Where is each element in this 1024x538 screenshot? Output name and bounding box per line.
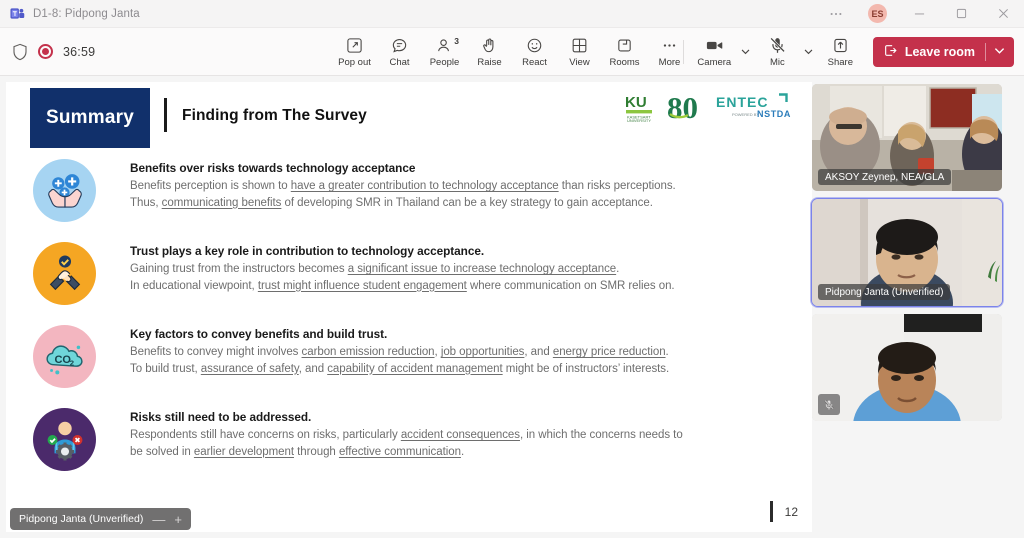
leave-room-label: Leave room [905,45,975,59]
mic-muted-icon [768,36,787,56]
breakout-rooms-icon [616,36,633,56]
chat-icon [391,36,408,56]
slide-row: Benefits over risks towards technology a… [6,156,812,239]
eighty-anniversary-logo: 80 [667,90,707,129]
slide-row-title: Trust plays a key role in contribution t… [130,244,675,258]
leave-divider [985,43,986,61]
slide-header-divider [164,98,167,132]
chat-button[interactable]: Chat [377,30,422,74]
risk-management-person-icon [33,408,96,471]
text-segment: Benefits to convey might involves [130,346,302,358]
meeting-toolbar: 36:59 Pop out Chat [0,28,1024,76]
participant-tile-active-speaker[interactable]: Pidpong Janta (Unverified) [812,199,1002,306]
chat-label: Chat [389,57,409,68]
react-button[interactable]: React [512,30,557,74]
co2-cloud-icon: CO 2 [33,325,96,388]
slide-row-text: Key factors to convey benefits and build… [130,322,669,377]
raise-label: Raise [477,57,501,68]
shared-content-area: Summary Finding from The Survey KU KASET… [0,76,812,538]
people-icon [436,36,453,56]
presenter-name: Pidpong Janta (Unverified) [19,513,143,525]
handshake-trust-icon [33,242,96,305]
presenter-chip[interactable]: Pidpong Janta (Unverified) — + [10,508,191,530]
slide-logos: KU KASETSART UNIVERSITY 80 [624,90,794,129]
pop-out-button[interactable]: Pop out [332,30,377,74]
svg-text:ENTEC: ENTEC [716,94,768,110]
slide-page-number: 12 [785,505,798,519]
maximize-restore-button[interactable] [940,0,982,28]
text-segment: might be of instructors’ interests. [503,363,670,375]
title-bar-controls: ES [815,0,1024,28]
slide-row-text: Benefits over risks towards technology a… [130,156,676,211]
underlined-phrase: communicating benefits [162,197,282,209]
text-segment: Thus, [130,197,162,209]
slide-body-rows: Benefits over risks towards technology a… [6,156,812,488]
slide-row-text: Trust plays a key role in contribution t… [130,239,675,294]
share-button[interactable]: Share [818,30,863,74]
teams-icon [10,6,25,21]
title-more-button[interactable] [815,0,857,28]
slide-footer: 12 [770,501,798,522]
slide-row: Trust plays a key role in contribution t… [6,239,812,322]
minimize-button[interactable] [898,0,940,28]
underlined-phrase: accident consequences [401,429,520,441]
text-segment: Benefits perception is shown to [130,180,291,192]
toolbar-left-group: 36:59 [0,43,95,61]
slide-row-line: To build trust, assurance of safety, and… [130,361,669,378]
presentation-slide[interactable]: Summary Finding from The Survey KU KASET… [6,82,812,532]
camera-icon [705,36,724,56]
people-label: People [430,57,460,68]
share-up-arrow-icon [832,36,849,56]
leave-room-button[interactable]: Leave room [873,37,1014,67]
underlined-phrase: job opportunities [441,346,525,358]
slide-row-title: Key factors to convey benefits and build… [130,327,669,341]
slide-row-line: be solved in earlier development through… [130,444,683,461]
text-segment: , and [524,346,552,358]
svg-text:80: 80 [667,90,698,124]
slide-footer-divider [770,501,773,522]
more-label: More [659,57,681,68]
slide-row-line: Benefits to convey might involves carbon… [130,344,669,361]
text-segment: through [294,446,339,458]
window-title-bar: D1-8: Pidpong Janta ES [0,0,1024,28]
svg-text:KU: KU [625,94,647,111]
mic-options-chevron-down-icon[interactable] [800,30,818,74]
camera-label: Camera [697,57,731,68]
people-button[interactable]: 3 People [422,30,467,74]
rooms-button[interactable]: Rooms [602,30,647,74]
close-button[interactable] [982,0,1024,28]
text-segment: be solved in [130,446,194,458]
underlined-phrase: earlier development [194,446,294,458]
underlined-phrase: energy price reduction [553,346,666,358]
text-segment: . [616,263,619,275]
slide-row-line: Respondents still have concerns on risks… [130,427,683,444]
text-segment: where communication on SMR relies on. [467,280,675,292]
slide-row-line: Thus, communicating benefits of developi… [130,195,676,212]
people-count-badge: 3 [454,36,459,46]
leave-options-chevron-down-icon[interactable] [993,44,1006,60]
text-segment: Gaining trust from the instructors becom… [130,263,348,275]
account-avatar[interactable]: ES [868,4,887,23]
slide-row-line: Benefits perception is shown to have a g… [130,178,676,195]
more-button[interactable]: More [647,30,692,74]
view-button[interactable]: View [557,30,602,74]
text-segment: . [461,446,464,458]
slide-row-title: Risks still need to be addressed. [130,410,683,424]
text-segment: In educational viewpoint, [130,280,258,292]
slide-row-line: Gaining trust from the instructors becom… [130,261,675,278]
hands-holding-benefits-icon [33,159,96,222]
text-segment: . [666,346,669,358]
toolbar-center-group: Pop out Chat 3 [332,28,692,76]
entec-nstda-logo: ENTEC POWERED BY NSTDA [716,92,794,127]
slide-row: CO 2 Key factors to convey benefits and … [6,322,812,405]
video-feed [812,314,1002,421]
participant-name-label: AKSOY Zeynep, NEA/GLA [818,169,951,185]
participant-tile[interactable]: AKSOY Zeynep, NEA/GLA [812,84,1002,191]
meeting-stage: Summary Finding from The Survey KU KASET… [0,76,1024,538]
ku-logo: KU KASETSART UNIVERSITY [624,92,658,127]
recording-timer: 36:59 [63,45,95,59]
slide-title: Finding from The Survey [182,107,367,125]
raise-hand-button[interactable]: Raise [467,30,512,74]
toolbar-right-group: Camera Mic [675,30,1024,74]
teams-meeting-window: D1-8: Pidpong Janta ES [0,0,1024,538]
text-segment: than risks perceptions. [559,180,676,192]
svg-text:UNIVERSITY: UNIVERSITY [627,118,651,122]
pop-out-icon [346,36,363,56]
underlined-phrase: assurance of safety [201,363,299,375]
svg-text:POWERED BY: POWERED BY [732,112,759,117]
underlined-phrase: effective communication [339,446,461,458]
slide-row: Risks still need to be addressed. Respon… [6,405,812,488]
shield-icon [12,43,28,61]
view-grid-icon [571,36,588,56]
text-segment: , in which the concerns needs to [520,429,683,441]
text-segment: , and [299,363,327,375]
participant-name-label: Pidpong Janta (Unverified) [818,284,950,300]
mic-label: Mic [770,57,785,68]
svg-text:2: 2 [69,358,73,367]
share-label: Share [828,57,853,68]
pop-out-label: Pop out [338,57,371,68]
mic-button[interactable]: Mic [755,30,800,74]
slide-row-line: In educational viewpoint, trust might in… [130,278,675,295]
record-icon [38,44,53,59]
window-title: D1-8: Pidpong Janta [33,8,140,20]
text-segment: of developing SMR in Thailand can be a k… [281,197,652,209]
react-smiley-icon [526,36,543,56]
slide-header: Summary Finding from The Survey KU KASET… [6,82,812,154]
react-label: React [522,57,547,68]
slide-row-text: Risks still need to be addressed. Respon… [130,405,683,460]
mic-muted-icon [818,394,840,415]
underlined-phrase: capability of accident management [327,363,502,375]
raise-hand-icon [481,36,498,56]
zoom-in-button[interactable]: + [174,513,182,526]
camera-button[interactable]: Camera [692,30,737,74]
slide-row-title: Benefits over risks towards technology a… [130,161,676,175]
camera-options-chevron-down-icon[interactable] [737,30,755,74]
participant-tile[interactable] [812,314,1002,421]
slide-badge: Summary [30,88,150,148]
rooms-label: Rooms [609,57,639,68]
text-segment: Respondents still have concerns on risks… [130,429,401,441]
zoom-out-button[interactable]: — [152,513,165,526]
text-segment: To build trust, [130,363,201,375]
more-ellipsis-icon [661,36,678,56]
leave-arrow-icon [883,43,898,61]
participant-roster: AKSOY Zeynep, NEA/GLA [812,76,1024,538]
title-bar-left: D1-8: Pidpong Janta [0,6,140,21]
svg-text:NSTDA: NSTDA [757,109,791,119]
underlined-phrase: a significant issue to increase technolo… [348,263,616,275]
view-label: View [569,57,589,68]
underlined-phrase: trust might influence student engagement [258,280,467,292]
underlined-phrase: carbon emission reduction [302,346,435,358]
underlined-phrase: have a greater contribution to technolog… [291,180,559,192]
